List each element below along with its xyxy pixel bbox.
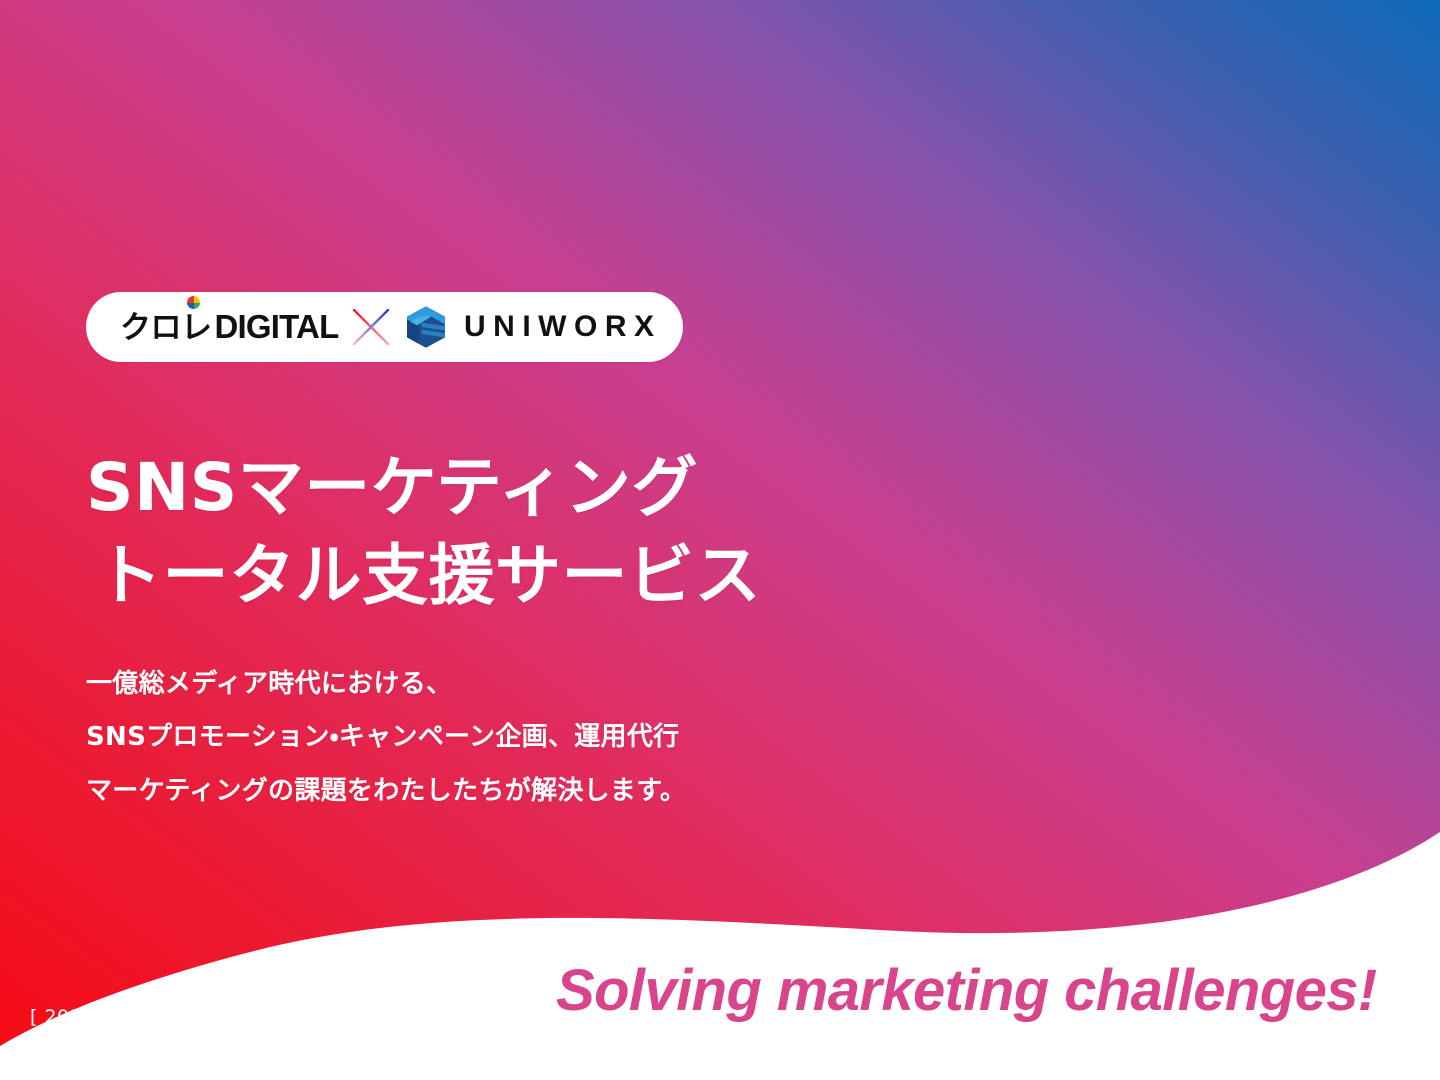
lead-line-2: SNSプロモーション・キャンペーン企画、運用代行 bbox=[86, 711, 686, 764]
x-cross-icon bbox=[350, 306, 392, 348]
lead-line-1: 一億総メディア時代における、 bbox=[86, 658, 686, 711]
partner-logo-bar: クロレ DIGITAL bbox=[86, 292, 683, 362]
lead-line-3: マーケティングの課題をわたしたちが解決します。 bbox=[86, 765, 686, 818]
slide-tagline: Solving marketing challenges! bbox=[556, 962, 1377, 1020]
headline-line-1: SNSマーケティング bbox=[86, 444, 761, 532]
kurore-digital-wordmark: DIGITAL bbox=[215, 310, 339, 343]
version-stamp: [ 2024年7月1日版 ] bbox=[30, 1008, 212, 1027]
uniworx-logo: UNIWORX bbox=[404, 305, 662, 349]
title-slide: クロレ DIGITAL bbox=[0, 0, 1440, 1080]
slide-lead-paragraph: 一億総メディア時代における、 SNSプロモーション・キャンペーン企画、運用代行 … bbox=[86, 658, 686, 818]
uniworx-hex-icon bbox=[404, 305, 448, 349]
pinwheel-dot-icon bbox=[187, 296, 200, 309]
kurore-kana-text: クロレ bbox=[120, 313, 212, 344]
kurore-digital-logo: クロレ DIGITAL bbox=[120, 310, 338, 344]
headline-line-2: トータル支援サービス bbox=[86, 532, 761, 620]
uniworx-wordmark: UNIWORX bbox=[464, 312, 662, 342]
slide-headline: SNSマーケティング トータル支援サービス bbox=[86, 444, 761, 620]
